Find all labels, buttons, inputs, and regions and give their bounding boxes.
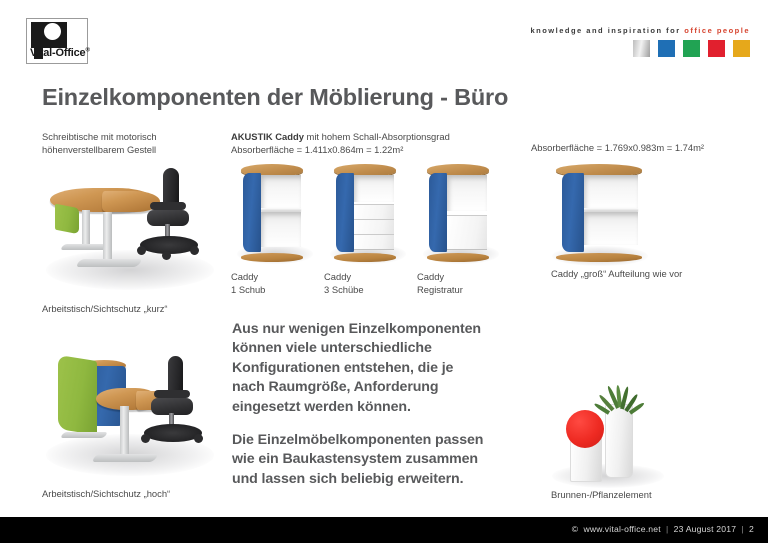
body-paragraph-2: Die Einzelmöbelkomponenten passen wie ei… [232, 431, 532, 489]
copyright-symbol: © [572, 524, 579, 534]
caddy-2-acoustic-panel [336, 173, 355, 251]
desk-leg-2 [120, 406, 129, 458]
desk-foot-2 [91, 454, 159, 462]
caddy-1-cavity-lower [261, 212, 301, 247]
footer-separator-2: | [741, 524, 743, 534]
caddy-2-drawer-1 [354, 204, 394, 220]
caddy-3-acoustic-panel [429, 173, 448, 251]
logo: Vital-Office® [26, 18, 88, 64]
caddy-big-base [556, 253, 642, 262]
footer-text: © www.vital-office.net | 23 August 2017 … [572, 524, 754, 534]
caddy-1-label-line2: 1 Schub [231, 283, 315, 296]
desk-leg-right [103, 212, 112, 264]
caddy-big-acoustic-panel [562, 173, 584, 251]
caddy-1-image [231, 160, 319, 268]
caddy-2-label-line2: 3 Schübe [324, 283, 408, 296]
slide-canvas: Vital-Office® knowledge and inspiration … [0, 0, 768, 543]
footer-date: 23 August 2017 [674, 524, 737, 534]
logo-trademark: ® [85, 47, 89, 53]
caddy-3-label-line2: Registratur [417, 283, 507, 296]
caddy-1-base [241, 253, 303, 262]
caddy-big-caption: Caddy „groß“ Aufteilung wie vor [551, 267, 766, 280]
caddy-2-body [334, 172, 396, 254]
plant-fountain-image [548, 382, 673, 492]
planter-tall [605, 404, 633, 478]
caddy-1-label-line1: Caddy [231, 270, 315, 283]
chair-caster-left [137, 246, 146, 255]
caddy-2-base [334, 253, 396, 262]
caddy-3-body [427, 172, 489, 254]
caddy-big-absorber-area: Absorberfläche = 1.769x0.983m = 1.74m² [531, 141, 761, 154]
footer-separator-1: | [666, 524, 668, 534]
caddy-2-drawer-2 [354, 219, 394, 235]
chair-armrest-2 [154, 390, 190, 398]
logo-wordmark: Vital-Office [30, 47, 85, 59]
caddy-3-file-drawer [447, 215, 487, 250]
chair-caster-right [190, 246, 199, 255]
desk-tall-caption: Arbeitstisch/Sichtschutz „hoch“ [42, 487, 242, 500]
caddy-big-cavity-upper [584, 175, 637, 208]
caddy-1-body [241, 172, 303, 254]
desk-short-image [40, 162, 220, 295]
chair-caster-left-2 [141, 434, 150, 443]
caddy-big-body [556, 172, 642, 254]
chair-caster-front [162, 251, 171, 260]
swatch-yellow [733, 40, 750, 57]
caddy-2-label-line1: Caddy [324, 270, 408, 283]
caddy-heading-bold: AKUSTIK Caddy [231, 131, 304, 142]
body-paragraph-1: Aus nur wenigen Einzelkomponenten können… [232, 320, 532, 417]
caddy-heading-rest: mit hohem Schall-Absorptionsgrad [304, 131, 450, 142]
caddy-1-cavity-upper [261, 175, 301, 208]
caddy-1-acoustic-panel [243, 173, 262, 251]
caddy-3-cavity [447, 175, 487, 211]
caddy-2-cavity [354, 175, 394, 202]
footer-band: © www.vital-office.net | 23 August 2017 … [0, 517, 768, 543]
tagline: knowledge and inspiration for office peo… [530, 26, 750, 35]
privacy-screen-short [55, 204, 79, 235]
fountain-red-disc [566, 410, 604, 448]
caddy-big-shelf [584, 208, 637, 211]
tagline-accent: office people [684, 26, 750, 35]
caddy-big-image [548, 162, 658, 268]
caddy-big-cavity-lower [584, 212, 637, 245]
caddy-2-drawer-3 [354, 234, 394, 250]
desk-short-caption: Arbeitstisch/Sichtschutz „kurz“ [42, 302, 242, 315]
swatch-silver [633, 40, 650, 57]
desk-tall-image [40, 342, 220, 482]
swatch-green [683, 40, 700, 57]
footer-page-number: 2 [749, 524, 754, 534]
caddy-3-label-line1: Caddy [417, 270, 507, 283]
color-swatch-row [633, 40, 750, 57]
caddy-3-base [427, 253, 489, 262]
footer-website[interactable]: www.vital-office.net [583, 524, 660, 534]
desk-foot-right [75, 259, 143, 267]
chair-caster-right-2 [194, 434, 203, 443]
header-band: Vital-Office® knowledge and inspiration … [0, 0, 768, 68]
swatch-red [708, 40, 725, 57]
logo-text: Vital-Office® [30, 47, 90, 59]
plant-caption: Brunnen-/Pflanzelement [551, 488, 766, 501]
tagline-main: knowledge and inspiration for [530, 26, 684, 35]
logo-mark-icon [31, 22, 67, 48]
caddy-2-image [324, 160, 412, 268]
caddy-absorber-area: Absorberfläche = 1.411x0.864m = 1.22m² [231, 143, 531, 156]
chair-armrest [150, 202, 186, 210]
screen-foot [60, 432, 108, 438]
caddy-1-shelf [261, 208, 301, 211]
caddy-3-image [417, 160, 505, 268]
caddy-section-heading: AKUSTIK Caddy mit hohem Schall-Absorptio… [231, 130, 531, 143]
privacy-screen-tall [58, 355, 97, 435]
page-title: Einzelkomponenten der Möblierung - Büro [42, 84, 508, 111]
swatch-blue [658, 40, 675, 57]
desk-section-heading: Schreibtische mit motorisch höhenverstel… [42, 130, 237, 156]
